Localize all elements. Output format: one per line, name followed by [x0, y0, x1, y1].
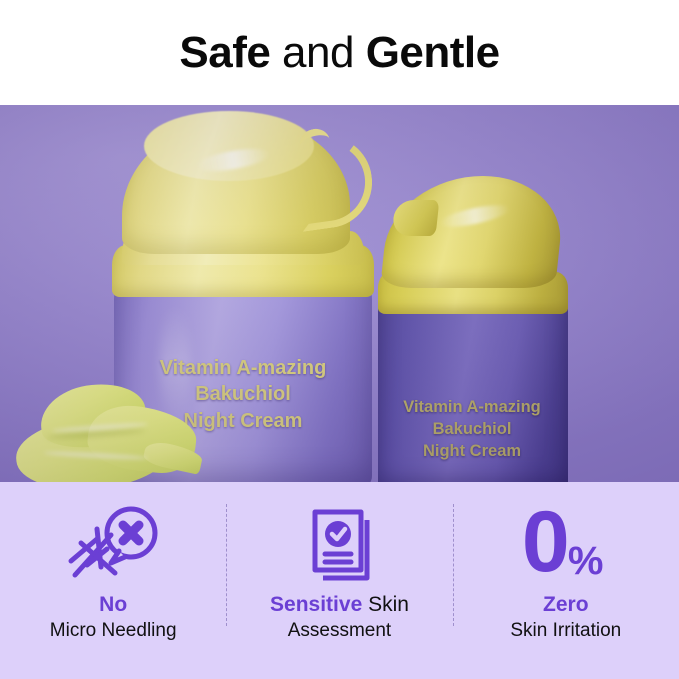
- page-title-part3: Gentle: [366, 28, 500, 77]
- benefit-1-line1: No: [50, 592, 177, 618]
- benefit-item-zero-skin-irritation: 0 % Zero Skin Irritation: [453, 482, 679, 679]
- benefit-item-no-micro-needling: No Micro Needling: [0, 482, 226, 679]
- benefit-1-highlight: No: [99, 593, 127, 616]
- benefit-2-line2: Assessment: [270, 619, 409, 642]
- bottle-back-nozzle: [392, 200, 440, 236]
- benefit-2-line1: Sensitive Skin: [270, 592, 409, 618]
- benefit-1-line2: Micro Needling: [50, 619, 177, 642]
- product-bottle-back: [370, 160, 575, 482]
- zero-percent-icon: 0 %: [522, 502, 610, 588]
- benefits-strip: No Micro Needling Sensitive Skin Assessm…: [0, 482, 679, 679]
- zero-digit: 0: [522, 505, 568, 579]
- page-title-part2: and: [270, 28, 365, 77]
- benefit-caption-1: No Micro Needling: [50, 592, 177, 642]
- bottle-back-pump-cap: [380, 176, 567, 288]
- bottle-back-highlight: [439, 201, 511, 231]
- product-infographic: Safe and Gentle Vitamin A-mazing Bakuch: [0, 0, 679, 679]
- benefit-3-line1: Zero: [510, 592, 621, 618]
- benefit-caption-2: Sensitive Skin Assessment: [270, 592, 409, 642]
- document-check-icon: [299, 502, 379, 588]
- no-needles-icon: [67, 502, 159, 588]
- hero-product-photo: Vitamin A-mazing Bakuchiol Night Cream V…: [0, 105, 679, 482]
- header-band: Safe and Gentle: [0, 0, 679, 105]
- bottle-back-body: [378, 288, 568, 482]
- page-title: Safe and Gentle: [179, 28, 499, 78]
- benefit-3-highlight: Zero: [543, 593, 589, 616]
- bottle-front-cap-dome: [144, 111, 314, 181]
- benefit-2-highlight: Sensitive: [270, 593, 362, 616]
- page-title-part1: Safe: [179, 28, 270, 77]
- benefit-caption-3: Zero Skin Irritation: [510, 592, 621, 642]
- benefit-2-plain: Skin: [362, 593, 409, 616]
- zero-percent-mark: 0 %: [522, 505, 610, 585]
- cream-swatch: [16, 383, 206, 482]
- benefit-3-line2: Skin Irritation: [510, 619, 621, 642]
- benefit-item-sensitive-skin-assessment: Sensitive Skin Assessment: [226, 482, 452, 679]
- percent-symbol: %: [568, 541, 604, 581]
